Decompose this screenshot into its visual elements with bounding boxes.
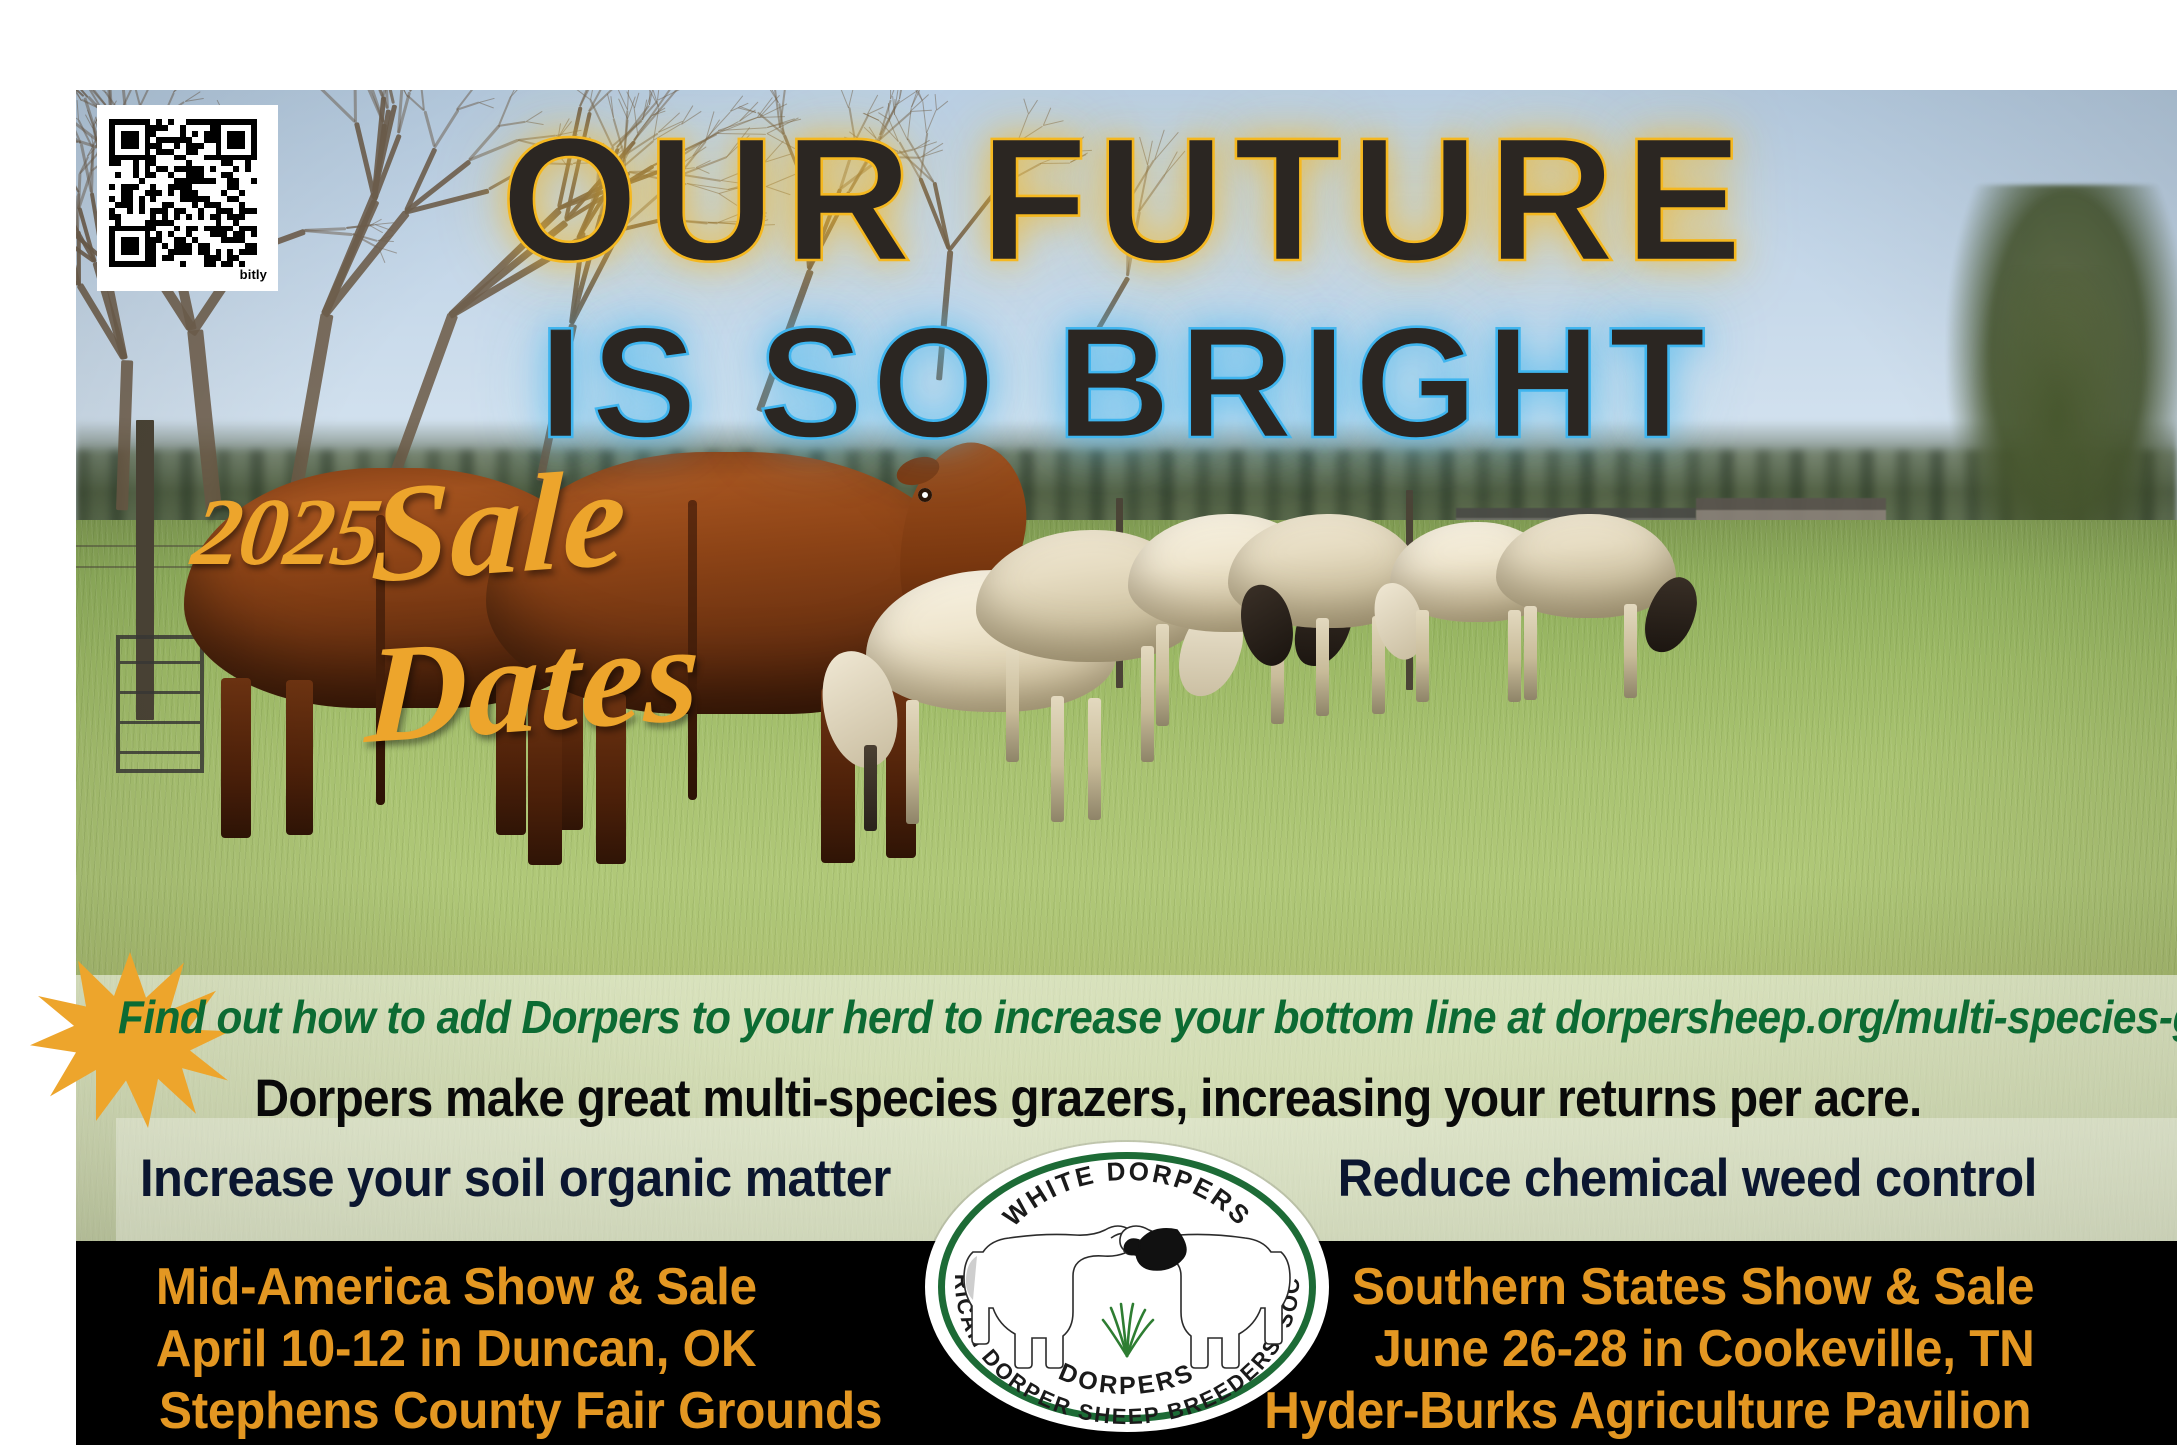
adsbs-logo: WHITE DORPERS AMERICAN DORPER SHEEP BREE… <box>925 1142 1329 1432</box>
qr-code[interactable]: bitly <box>97 105 278 291</box>
qr-code-modules <box>109 119 257 267</box>
cow-leg <box>221 678 251 838</box>
event-mid-america: Mid-America Show & Sale April 10-12 in D… <box>140 1256 901 1442</box>
logo-rams-illustration <box>925 1142 1329 1432</box>
ram-white <box>964 1226 1140 1368</box>
event-mid-america-dates: April 10-12 in Duncan, OK <box>156 1318 756 1380</box>
cow-leg <box>286 680 313 835</box>
event-southern-states: Southern States Show & Sale June 26-28 i… <box>1244 1256 2052 1442</box>
benefit-right-text: Reduce chemical weed control <box>1338 1148 2037 1209</box>
ram-black-head <box>1120 1226 1290 1368</box>
sale-dates-label: Sale Dates <box>363 414 961 776</box>
event-southern-states-dates: June 26-28 in Cookeville, TN <box>1374 1318 2034 1380</box>
tagline-text: Dorpers make great multi-species grazers… <box>0 1068 2177 1129</box>
poster-root: OUR FUTURE IS SO BRIGHT 2025 Sale Dates … <box>0 0 2177 1445</box>
sale-dates-year: 2025 <box>186 476 386 587</box>
benefit-right: Reduce chemical weed control <box>1277 1148 2037 1209</box>
event-mid-america-name: Mid-America Show & Sale <box>156 1256 757 1318</box>
event-southern-states-venue: Hyder-Burks Agriculture Pavilion <box>1265 1380 2032 1442</box>
grass-tuft-icon <box>1103 1304 1153 1356</box>
metal-gate <box>116 635 204 773</box>
benefit-left: Increase your soil organic matter <box>140 1148 956 1209</box>
green-callout-text: Find out how to add Dorpers to your herd… <box>118 990 1949 1044</box>
tagline-text-inner: Dorpers make great multi-species grazers… <box>255 1068 1922 1129</box>
benefit-left-text: Increase your soil organic matter <box>140 1148 891 1209</box>
sale-dates-script: 2025 Sale Dates <box>194 442 954 572</box>
event-southern-states-name: Southern States Show & Sale <box>1352 1256 2034 1318</box>
qr-code-brand-label: bitly <box>240 267 267 282</box>
event-mid-america-venue: Stephens County Fair Grounds <box>159 1380 882 1442</box>
